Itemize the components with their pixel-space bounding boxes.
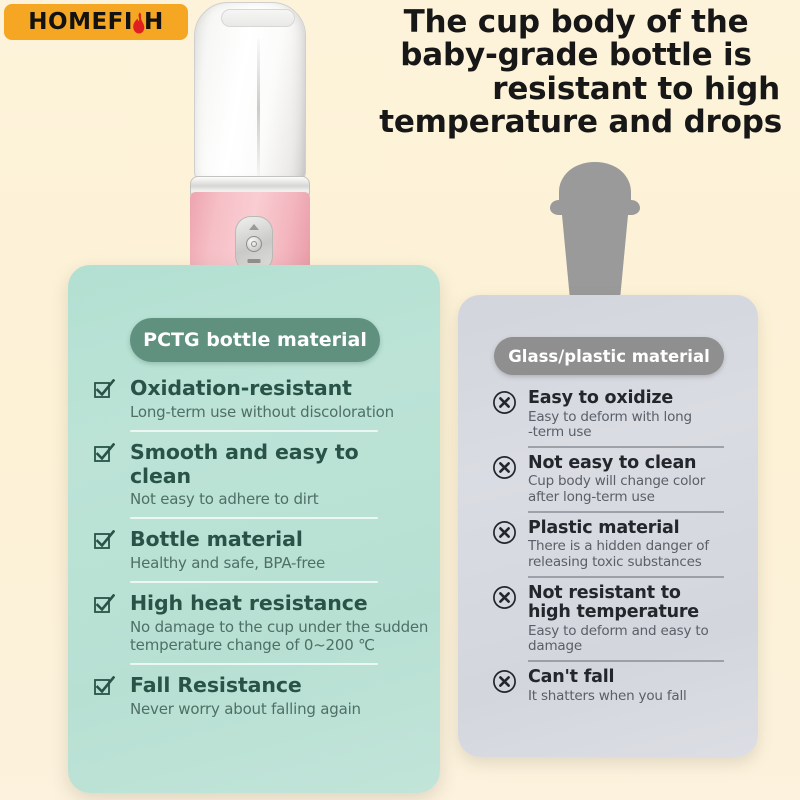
drawback-item-subtitle-line: after long-term use: [528, 490, 746, 505]
feature-list-item: Smooth and easy to cleanNot easy to adhe…: [94, 441, 424, 509]
triangle-indicator-icon: [249, 224, 259, 230]
right-panel-divider: [528, 660, 724, 662]
right-panel-list: Easy to oxidizeEasy to deform with long-…: [492, 389, 746, 704]
drawback-item-title: Easy to oxidize: [528, 389, 746, 409]
drawback-item-title: Not resistant tohigh temperature: [528, 584, 746, 623]
drawback-list-item: Easy to oxidizeEasy to deform with long-…: [492, 389, 746, 440]
left-panel-divider: [130, 430, 378, 432]
drawback-item-subtitle-line: It shatters when you fall: [528, 689, 746, 704]
drawback-item-subtitle-line: -term use: [528, 425, 746, 440]
feature-item-subtitle-line: Never worry about falling again: [130, 700, 424, 718]
feature-card-pctg: PCTG bottle material Oxidation-resistant…: [68, 265, 440, 793]
drawback-item-subtitle: Easy to deform with long-term use: [528, 410, 746, 441]
feature-item-subtitle: Not easy to adhere to dirt: [130, 490, 424, 508]
feature-item-subtitle-line: Long-term use without discoloration: [130, 403, 424, 421]
drawback-item-subtitle-line: releasing toxic substances: [528, 555, 746, 570]
feature-item-subtitle: Never worry about falling again: [130, 700, 424, 718]
feature-list-item: High heat resistanceNo damage to the cup…: [94, 592, 424, 654]
drawback-item-subtitle: Easy to deform and easy todamage: [528, 624, 746, 655]
feature-item-subtitle-line: Healthy and safe, BPA-free: [130, 554, 424, 572]
glass-cup-silhouette: [545, 160, 645, 310]
left-panel-divider: [130, 517, 378, 519]
comparison-card-glass-plastic: Glass/plastic material Easy to oxidizeEa…: [458, 295, 758, 757]
feature-item-subtitle-line: No damage to the cup under the sudden: [130, 618, 424, 636]
feature-item-title: Bottle material: [130, 528, 424, 552]
drawback-item-title-line: Easy to oxidize: [528, 389, 746, 409]
drawback-item-title: Plastic material: [528, 519, 746, 539]
left-panel-divider: [130, 663, 378, 665]
right-panel-divider: [528, 511, 724, 513]
headline-line-4: temperature and drops: [368, 106, 784, 139]
drawback-item-title-line: Can't fall: [528, 668, 746, 688]
right-panel-badge: Glass/plastic material: [494, 337, 724, 375]
blender-control-panel: [235, 216, 273, 272]
feature-item-subtitle: Healthy and safe, BPA-free: [130, 554, 424, 572]
checkbox-checked-icon: [94, 530, 115, 550]
drawback-list-item: Can't fallIt shatters when you fall: [492, 668, 746, 704]
drawback-item-subtitle-line: damage: [528, 639, 746, 654]
circle-x-icon: [492, 669, 517, 694]
drawback-item-title-line: Not easy to clean: [528, 454, 746, 474]
brand-logo-text-part2: OMEFI: [48, 9, 133, 35]
feature-list-item: Oxidation-resistantLong-term use without…: [94, 377, 424, 421]
drawback-item-title-line: high temperature: [528, 603, 746, 623]
headline-line-1: The cup body of the: [368, 6, 784, 39]
product-image-blender: [186, 0, 314, 286]
circle-x-icon: [492, 585, 517, 610]
feature-item-title: High heat resistance: [130, 592, 424, 616]
blender-cup: [194, 2, 306, 182]
circle-x-icon: [492, 455, 517, 480]
brand-logo-text-part3: H: [144, 9, 164, 35]
drawback-list-item: Not easy to cleanCup body will change co…: [492, 454, 746, 505]
brand-logo: HOMEFI H: [4, 4, 188, 40]
drawback-item-subtitle: There is a hidden danger ofreleasing tox…: [528, 539, 746, 570]
feature-list-item: Bottle materialHealthy and safe, BPA-fre…: [94, 528, 424, 572]
blender-cup-seam: [257, 39, 260, 179]
feature-list-item: Fall ResistanceNever worry about falling…: [94, 674, 424, 718]
brand-logo-text-part1: H: [28, 9, 48, 35]
left-panel-divider: [130, 581, 378, 583]
feature-item-subtitle: Long-term use without discoloration: [130, 403, 424, 421]
drawback-list-item: Not resistant tohigh temperatureEasy to …: [492, 584, 746, 655]
power-button-inner-icon: [251, 241, 257, 247]
flame-icon: [132, 11, 145, 33]
checkbox-checked-icon: [94, 379, 115, 399]
drawback-item-title: Can't fall: [528, 668, 746, 688]
infographic-canvas: HOMEFI H The cup body of the baby-grade …: [0, 0, 800, 800]
drawback-item-subtitle-line: Easy to deform and easy to: [528, 624, 746, 639]
checkbox-checked-icon: [94, 676, 115, 696]
feature-item-title: Smooth and easy to clean: [130, 441, 424, 489]
drawback-item-subtitle: It shatters when you fall: [528, 689, 746, 704]
right-panel-divider: [528, 576, 724, 578]
feature-item-title: Oxidation-resistant: [130, 377, 424, 401]
drawback-list-item: Plastic materialThere is a hidden danger…: [492, 519, 746, 570]
right-panel-divider: [528, 446, 724, 448]
brand-logo-text: HOMEFI H: [28, 9, 163, 35]
circle-x-icon: [492, 390, 517, 415]
feature-item-subtitle-line: temperature change of 0~200 ℃: [130, 636, 424, 654]
headline-line-3: resistant to high: [368, 73, 784, 106]
headline-line-2: baby-grade bottle is: [368, 39, 784, 72]
circle-x-icon: [492, 520, 517, 545]
drawback-item-title: Not easy to clean: [528, 454, 746, 474]
left-panel-list: Oxidation-resistantLong-term use without…: [94, 377, 424, 718]
drawback-item-subtitle-line: Cup body will change color: [528, 474, 746, 489]
drawback-item-title-line: Plastic material: [528, 519, 746, 539]
power-button-icon: [246, 236, 262, 252]
headline: The cup body of the baby-grade bottle is…: [368, 6, 784, 140]
checkbox-checked-icon: [94, 594, 115, 614]
left-panel-badge: PCTG bottle material: [130, 318, 380, 362]
feature-item-subtitle-line: Not easy to adhere to dirt: [130, 490, 424, 508]
checkbox-checked-icon: [94, 443, 115, 463]
drawback-item-title-line: Not resistant to: [528, 584, 746, 604]
blender-lid: [221, 9, 295, 27]
drawback-item-subtitle-line: Easy to deform with long: [528, 410, 746, 425]
battery-dash-indicator-icon: [248, 259, 261, 263]
feature-item-subtitle: No damage to the cup under the suddentem…: [130, 618, 424, 654]
drawback-item-subtitle: Cup body will change colorafter long-ter…: [528, 474, 746, 505]
drawback-item-subtitle-line: There is a hidden danger of: [528, 539, 746, 554]
feature-item-title: Fall Resistance: [130, 674, 424, 698]
